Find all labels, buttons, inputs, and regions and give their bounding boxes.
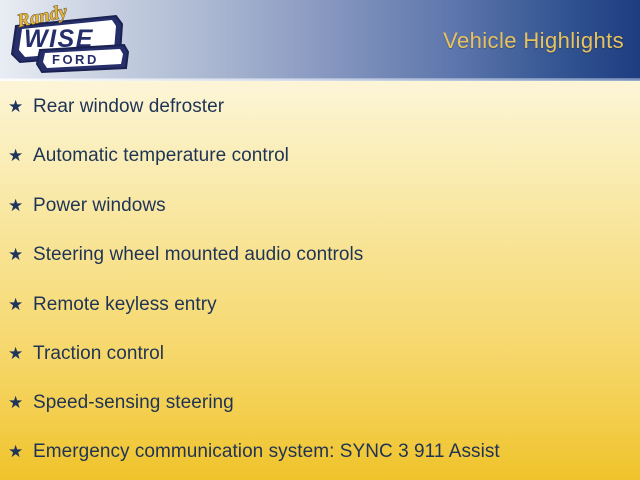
list-item: ★ Remote keyless entry: [8, 290, 632, 320]
svg-text:FORD: FORD: [52, 52, 99, 67]
list-item-label: Remote keyless entry: [33, 294, 217, 316]
star-icon: ★: [8, 197, 22, 216]
header-banner: WISE FORD Randy Vehicle Highlights: [0, 0, 640, 80]
list-item: ★ Emergency communication system: SYNC 3…: [8, 437, 632, 467]
list-item-label: Power windows: [33, 195, 166, 217]
list-item-label: Steering wheel mounted audio controls: [33, 244, 363, 266]
list-item: ★ Rear window defroster: [8, 92, 632, 122]
star-icon: ★: [8, 345, 22, 364]
star-icon: ★: [8, 296, 22, 315]
list-item: ★ Automatic temperature control: [8, 141, 632, 171]
list-item-label: Automatic temperature control: [33, 145, 289, 167]
list-item: ★ Power windows: [8, 191, 632, 221]
star-icon: ★: [8, 394, 22, 413]
list-item-label: Emergency communication system: SYNC 3 9…: [33, 441, 500, 463]
dealer-logo[interactable]: WISE FORD Randy: [4, 2, 136, 78]
list-item: ★ Speed-sensing steering: [8, 388, 632, 418]
list-item: ★ Steering wheel mounted audio controls: [8, 240, 632, 270]
list-item: ★ Traction control: [8, 339, 632, 369]
star-icon: ★: [8, 147, 22, 166]
page-title: Vehicle Highlights: [443, 28, 624, 54]
star-icon: ★: [8, 98, 22, 117]
vehicle-highlights-list: ★ Rear window defroster ★ Automatic temp…: [0, 80, 640, 480]
list-item-label: Traction control: [33, 343, 164, 365]
star-icon: ★: [8, 246, 22, 265]
list-item-label: Speed-sensing steering: [33, 392, 234, 414]
list-item-label: Rear window defroster: [33, 96, 224, 118]
vehicle-highlights-slide: WISE FORD Randy Vehicle Highlights ★ Rea…: [0, 0, 640, 480]
star-icon: ★: [8, 443, 22, 462]
